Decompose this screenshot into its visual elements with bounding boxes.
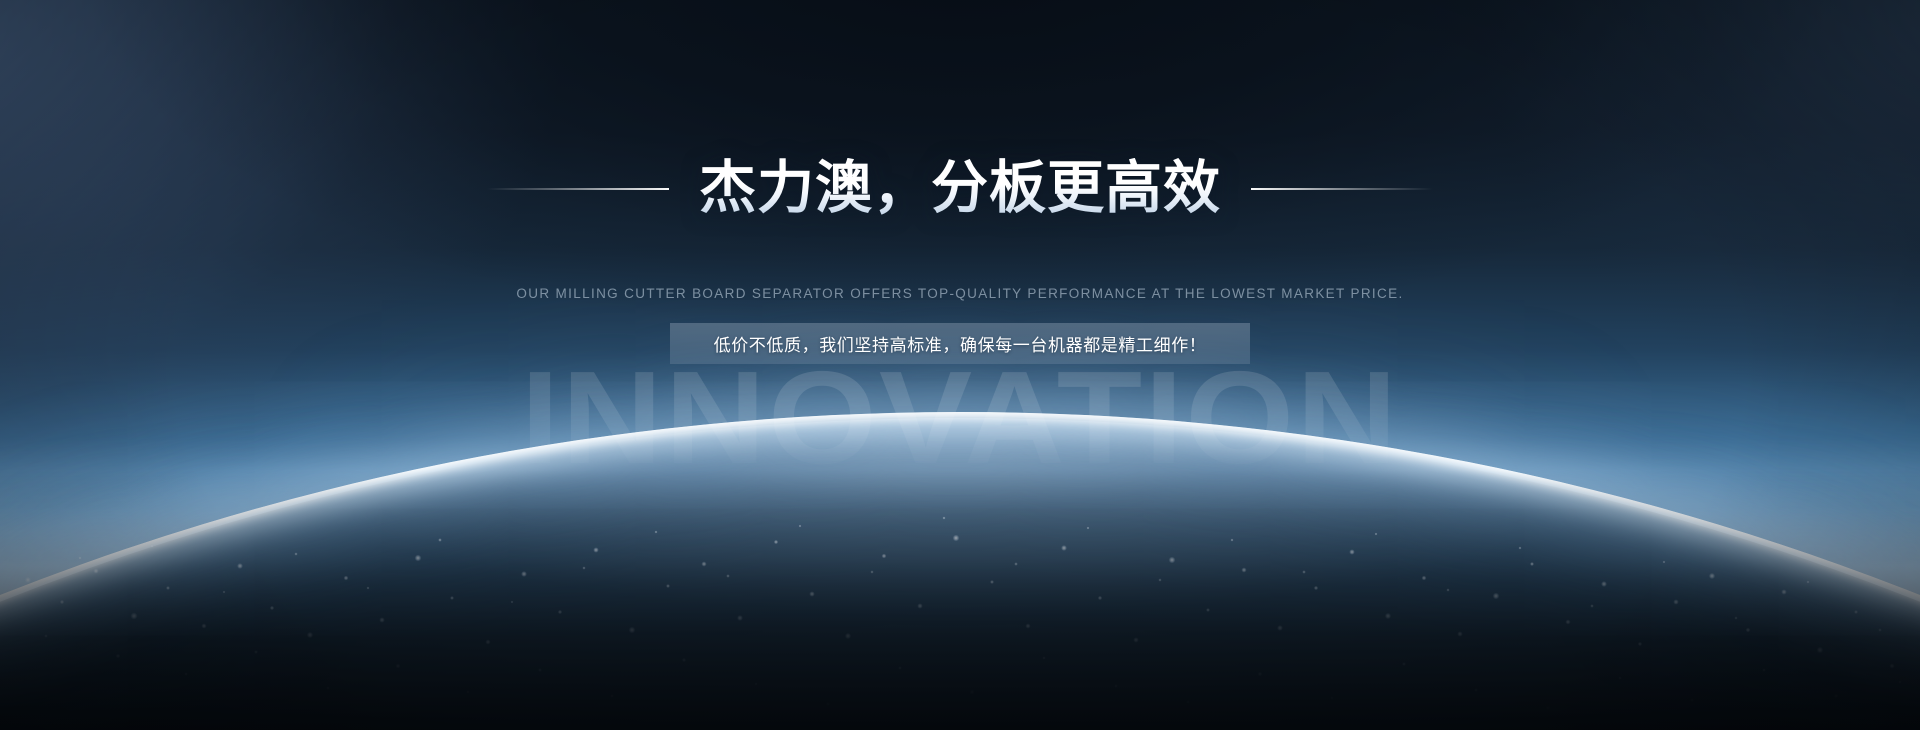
divider-line-left-icon [487,188,669,190]
divider-line-right-icon [1251,188,1433,190]
city-lights-svg [0,430,1920,730]
hero-banner: INNOVATION 杰力澳，分板更高效 OUR MILLING CUTTER … [0,0,1920,730]
page-title: 杰力澳，分板更高效 [699,158,1221,220]
tagline-banner: 低价不低质，我们坚持高标准，确保每一台机器都是精工细作！ [670,323,1250,364]
city-lights-overlay [0,430,1920,730]
banner-content: 杰力澳，分板更高效 OUR MILLING CUTTER BOARD SEPAR… [0,0,1920,364]
tagline-container: 低价不低质，我们坚持高标准，确保每一台机器都是精工细作！ [0,323,1920,364]
banner-subheadline: OUR MILLING CUTTER BOARD SEPARATOR OFFER… [0,286,1920,301]
headline-row: 杰力澳，分板更高效 [0,120,1920,258]
earth-horizon-scene [0,300,1920,730]
